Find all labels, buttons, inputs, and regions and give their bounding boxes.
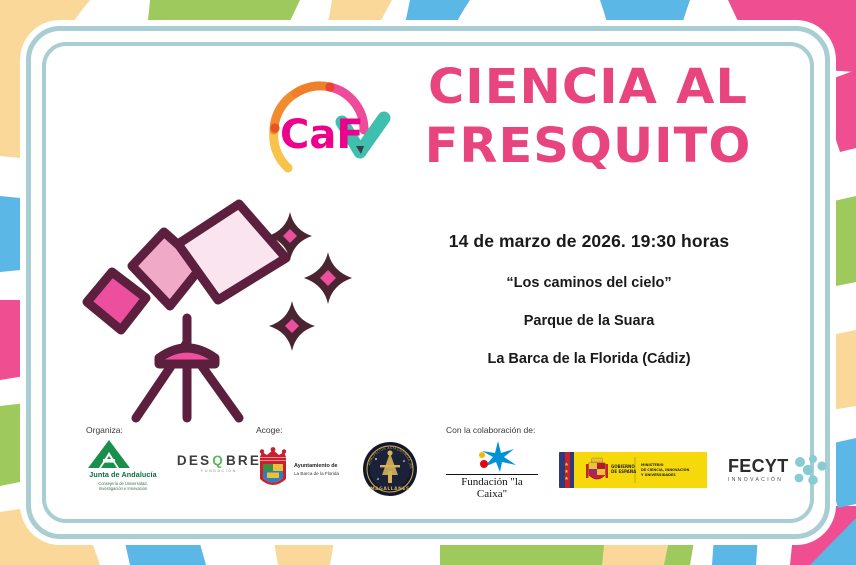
event-info: 14 de marzo de 2026. 19:30 horas “Los ca… <box>376 231 802 367</box>
svg-text:CaF: CaF <box>280 112 364 158</box>
fecyt-logo: FECYT INNOVACIÓN <box>728 455 827 485</box>
event-subtitle: “Los caminos del cielo” <box>376 275 802 291</box>
acoge-group: Acoge: <box>256 425 420 499</box>
title-line-1: CIENCIA AL <box>370 64 807 111</box>
desqbre-part1: DES <box>177 453 211 468</box>
junta-sub-2: Investigación e Innovación <box>86 486 160 492</box>
svg-text:MAGALLANES: MAGALLANES <box>370 486 410 492</box>
ayuntamiento-coat-of-arms-icon <box>256 447 290 493</box>
telescope-illustration <box>74 196 374 426</box>
gobierno-logo-svg: ★ ★ ★ <box>559 452 707 488</box>
junta-andalucia-logo: Junta de Andalucía Consejería de Univers… <box>86 439 160 492</box>
telescope-svg <box>74 196 374 426</box>
fecyt-dots-icon <box>793 455 827 485</box>
desqbre-logo: DES Q BRE FUNDACIÓN <box>179 453 259 473</box>
acoge-label: Acoge: <box>256 425 420 435</box>
poster-title: CIENCIA AL FRESQUITO <box>376 64 800 170</box>
svg-text:★: ★ <box>564 469 569 475</box>
event-city: La Barca de la Florida (Cádiz) <box>376 351 802 367</box>
caixa-name: Fundación "la Caixa" <box>446 474 538 500</box>
poster-content: CaF CIENCIA AL FRESQUITO <box>46 46 810 519</box>
caixa-star-icon <box>462 439 522 473</box>
organiza-group: Organiza: Junta de Andalucía Consejería … <box>86 425 259 492</box>
ayuntamiento-logo: Ayuntamiento de La Barca de la Florida <box>256 447 339 493</box>
svg-text:DE ESPAÑA: DE ESPAÑA <box>611 469 637 474</box>
gobierno-de-espana-logo: ★ ★ ★ <box>559 452 707 488</box>
ayuntamiento-line-2: La Barca de la Florida <box>294 471 339 477</box>
junta-arch-icon <box>86 439 132 469</box>
sparkle-group <box>268 212 352 351</box>
event-place: Parque de la Suara <box>376 313 802 329</box>
poster-header: CaF CIENCIA AL FRESQUITO <box>226 58 800 193</box>
svg-text:MINISTERIO: MINISTERIO <box>641 463 664 467</box>
fecyt-name: FECYT <box>728 457 789 475</box>
svg-text:★: ★ <box>564 462 569 468</box>
svg-text:DE CIENCIA, INNOVACIÓN: DE CIENCIA, INNOVACIÓN <box>641 467 689 472</box>
agrupacion-astronomica-logo: AGRUPACIÓN ASTRONÓMICA JEREZANA MAGALLAN… <box>362 441 420 499</box>
desqbre-sub: FUNDACIÓN <box>179 469 259 473</box>
event-date: 14 de marzo de 2026. 19:30 horas <box>376 231 802 252</box>
fundacion-la-caixa-logo: Fundación "la Caixa" <box>446 439 538 500</box>
junta-name: Junta de Andalucía <box>86 470 160 479</box>
agrupacion-emblem-icon: AGRUPACIÓN ASTRONÓMICA JEREZANA MAGALLAN… <box>362 441 418 497</box>
desqbre-q: Q <box>212 453 225 468</box>
fecyt-sub: INNOVACIÓN <box>728 477 789 483</box>
svg-text:★: ★ <box>564 476 569 482</box>
ayuntamiento-line-1: Ayuntamiento de <box>294 463 339 470</box>
colabora-group: Con la colaboración de: Fundación "la Ca… <box>446 425 827 500</box>
svg-text:Y UNIVERSIDADES: Y UNIVERSIDADES <box>640 473 676 477</box>
colabora-label: Con la colaboración de: <box>446 425 827 435</box>
footer-logos: Organiza: Junta de Andalucía Consejería … <box>56 425 804 515</box>
title-line-2: FRESQUITO <box>370 123 807 170</box>
poster: CaF CIENCIA AL FRESQUITO <box>0 0 856 565</box>
organiza-label: Organiza: <box>86 425 259 435</box>
